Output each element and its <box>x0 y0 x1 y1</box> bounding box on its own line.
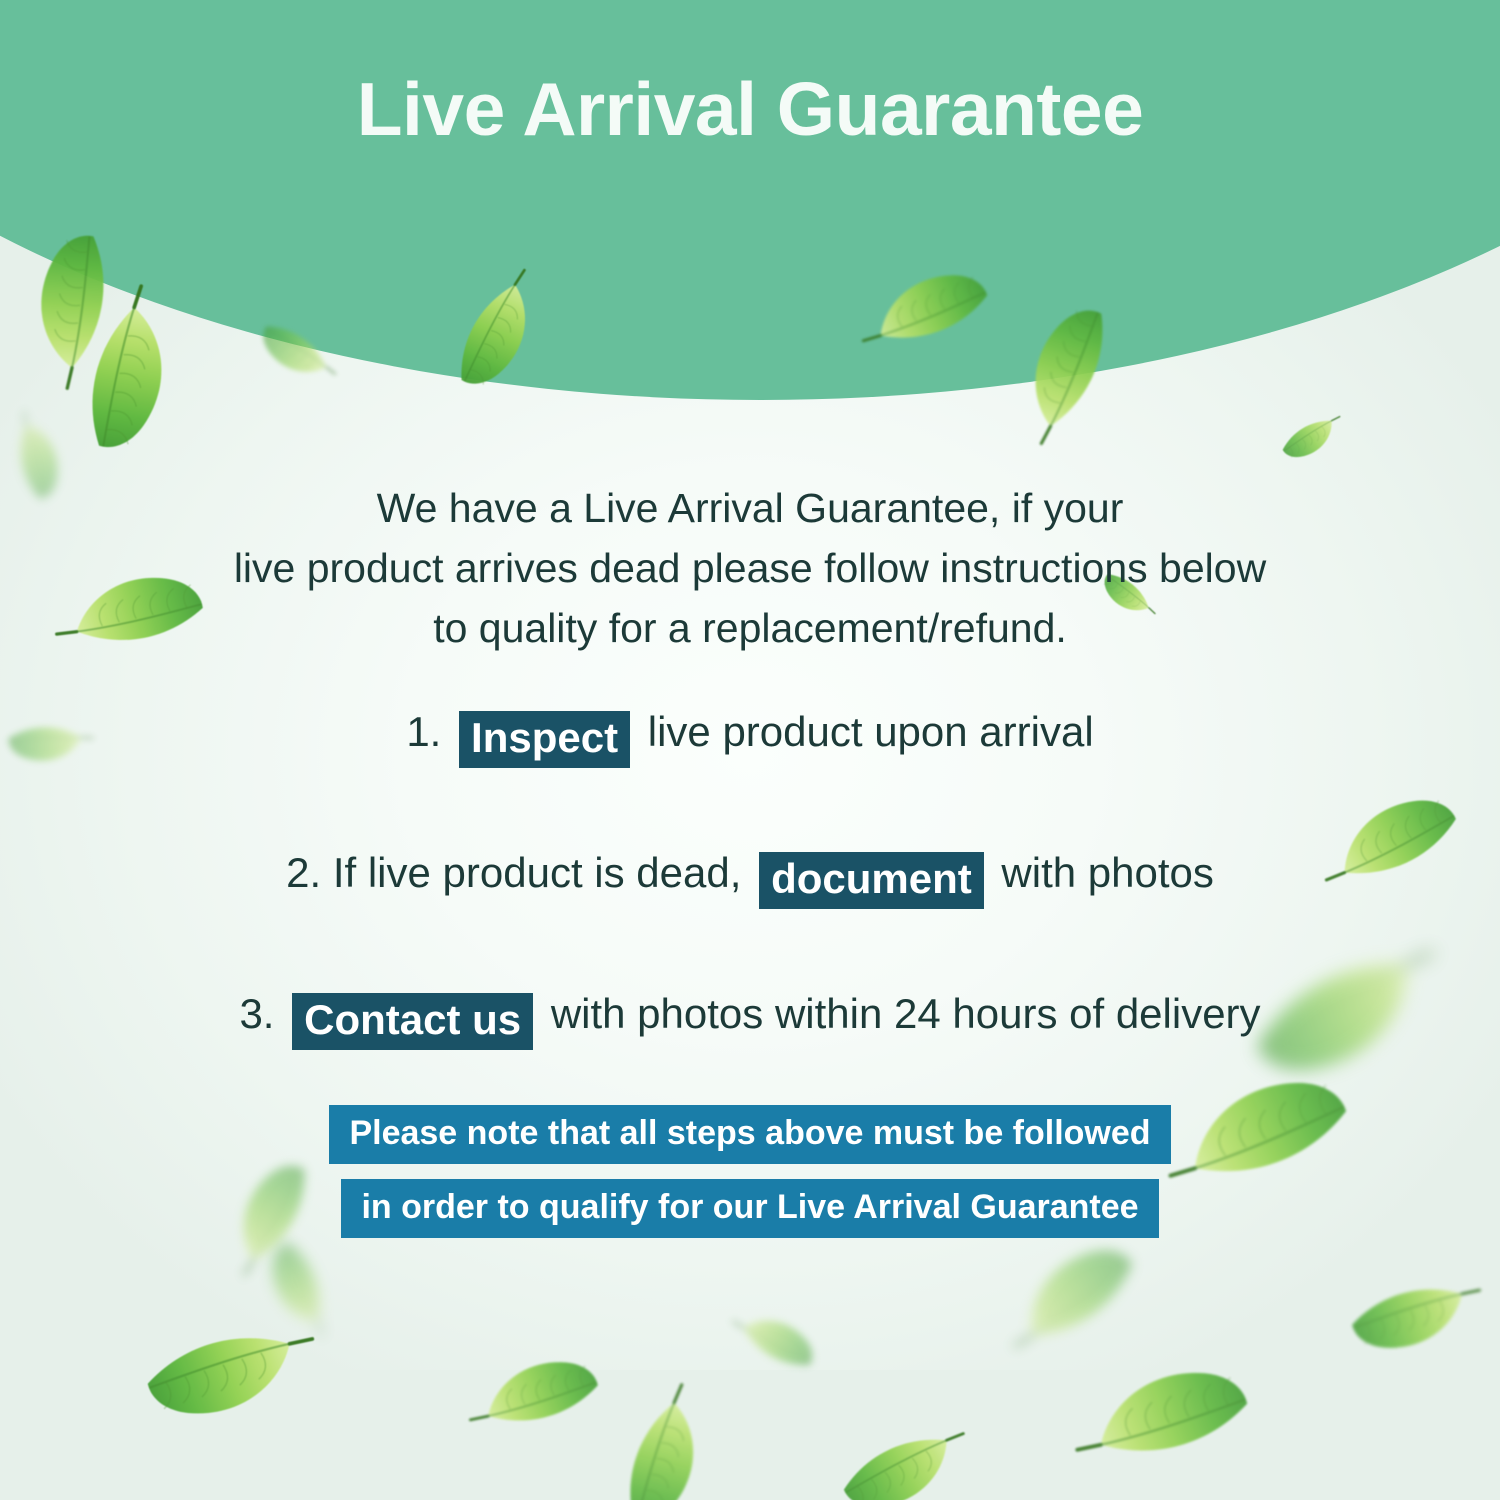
footer-note-line-1: Please note that all steps above must be… <box>329 1105 1170 1164</box>
intro-line-1: We have a Live Arrival Guarantee, if you… <box>0 478 1500 538</box>
step-3-number: 3. <box>239 990 274 1037</box>
instruction-step-3: 3. Contact us with photos within 24 hour… <box>0 987 1500 1044</box>
step-2-number: 2. <box>286 849 321 896</box>
step-1-highlight-inspect: Inspect <box>459 711 630 768</box>
live-arrival-guarantee-poster: Live Arrival Guarantee We have a Live Ar… <box>0 0 1500 1500</box>
intro-paragraph: We have a Live Arrival Guarantee, if you… <box>0 478 1500 658</box>
instruction-step-2: 2. If live product is dead, document wit… <box>0 846 1500 903</box>
footer-note-banner: Please note that all steps above must be… <box>0 1105 1500 1253</box>
step-2-text-after: with photos <box>1001 849 1213 896</box>
step-3-highlight-contact-us: Contact us <box>292 993 533 1050</box>
step-2-highlight-document: document <box>759 852 984 909</box>
instruction-steps-list: 1. Inspect live product upon arrival 2. … <box>0 705 1500 1044</box>
step-1-number: 1. <box>406 708 441 755</box>
step-3-text-after: with photos within 24 hours of delivery <box>551 990 1261 1037</box>
step-1-text-after: live product upon arrival <box>648 708 1094 755</box>
footer-note-row-1: Please note that all steps above must be… <box>0 1105 1500 1164</box>
step-2-text-before: If live product is dead, <box>333 849 742 896</box>
instruction-step-1: 1. Inspect live product upon arrival <box>0 705 1500 762</box>
footer-note-row-2: in order to qualify for our Live Arrival… <box>0 1179 1500 1238</box>
intro-line-3: to quality for a replacement/refund. <box>0 598 1500 658</box>
poster-content: We have a Live Arrival Guarantee, if you… <box>0 0 1500 1500</box>
intro-line-2: live product arrives dead please follow … <box>0 538 1500 598</box>
footer-note-line-2: in order to qualify for our Live Arrival… <box>341 1179 1158 1238</box>
